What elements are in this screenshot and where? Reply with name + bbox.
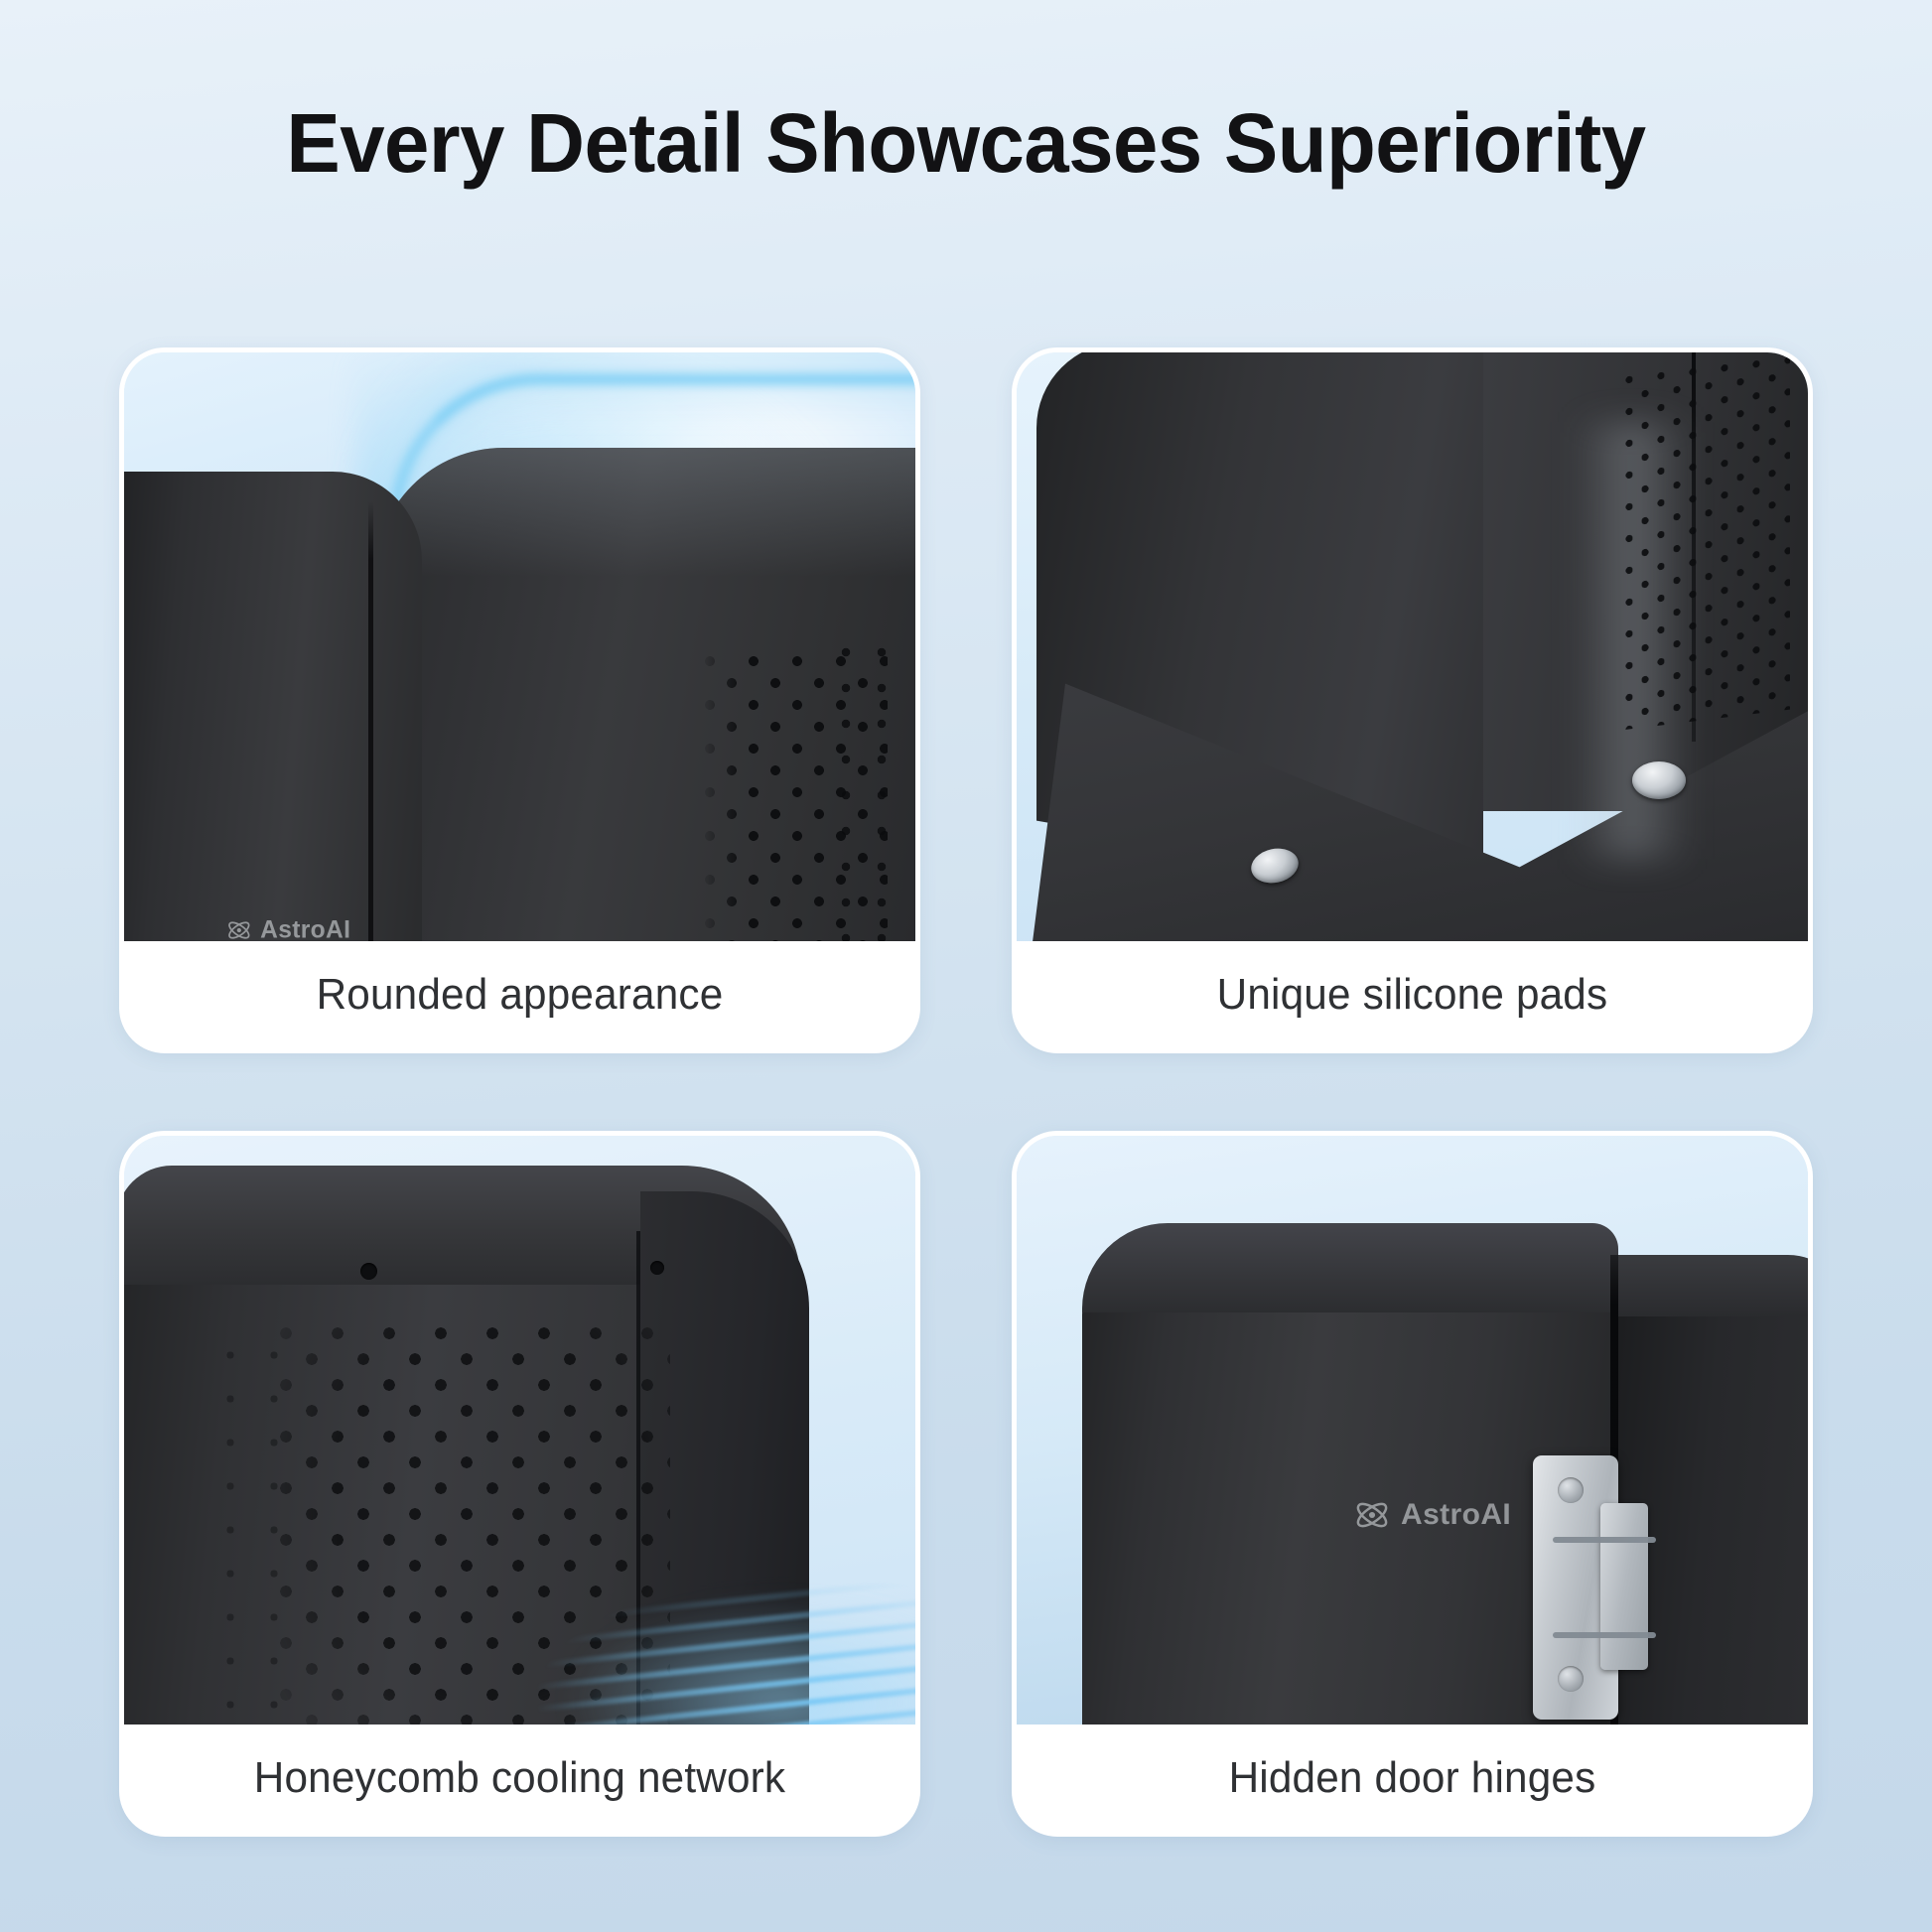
card-caption-honeycomb-cooling-network: Honeycomb cooling network	[140, 1725, 899, 1832]
silicone-pad	[1632, 761, 1686, 799]
hinge-screw	[1558, 1666, 1584, 1692]
product-door-top-edge	[1082, 1223, 1618, 1312]
hinge-screw	[1558, 1477, 1584, 1503]
body-top-sheen	[374, 448, 915, 577]
product-body-left	[124, 472, 422, 941]
perforated-vent-panel	[1621, 352, 1790, 730]
feature-card-honeycomb-cooling-network[interactable]: Honeycomb cooling network	[119, 1131, 920, 1837]
feature-card-unique-silicone-pads[interactable]: Unique silicone pads	[1012, 347, 1813, 1053]
product-photo-silicone-pads	[1017, 352, 1808, 941]
card-caption-unique-silicone-pads: Unique silicone pads	[1033, 941, 1792, 1048]
hinge-slot	[1553, 1537, 1656, 1543]
product-cabinet-top	[1612, 1255, 1808, 1316]
perforated-vent-edge	[836, 642, 905, 941]
airflow-streaks	[370, 1549, 915, 1725]
feature-card-rounded-appearance[interactable]: AstroAI Rounded appearance	[119, 347, 920, 1053]
product-photo-honeycomb-cooling	[124, 1136, 915, 1725]
page-title: Every Detail Showcases Superiority	[29, 95, 1903, 192]
card-caption-rounded-appearance: Rounded appearance	[140, 941, 899, 1048]
door-hinge-knuckle	[1600, 1503, 1648, 1670]
screw-hole	[650, 1261, 664, 1275]
feature-card-grid: AstroAI Rounded appearance Unique silico…	[119, 347, 1813, 1837]
product-photo-rounded-appearance: AstroAI	[124, 352, 915, 941]
panel-seam	[368, 501, 373, 941]
hinge-slot	[1553, 1632, 1656, 1638]
screw-hole	[360, 1263, 377, 1280]
card-caption-hidden-door-hinges: Hidden door hinges	[1033, 1725, 1792, 1832]
product-photo-hidden-door-hinges: AstroAI	[1017, 1136, 1808, 1725]
feature-card-hidden-door-hinges[interactable]: AstroAI Hidden door hinges	[1012, 1131, 1813, 1837]
